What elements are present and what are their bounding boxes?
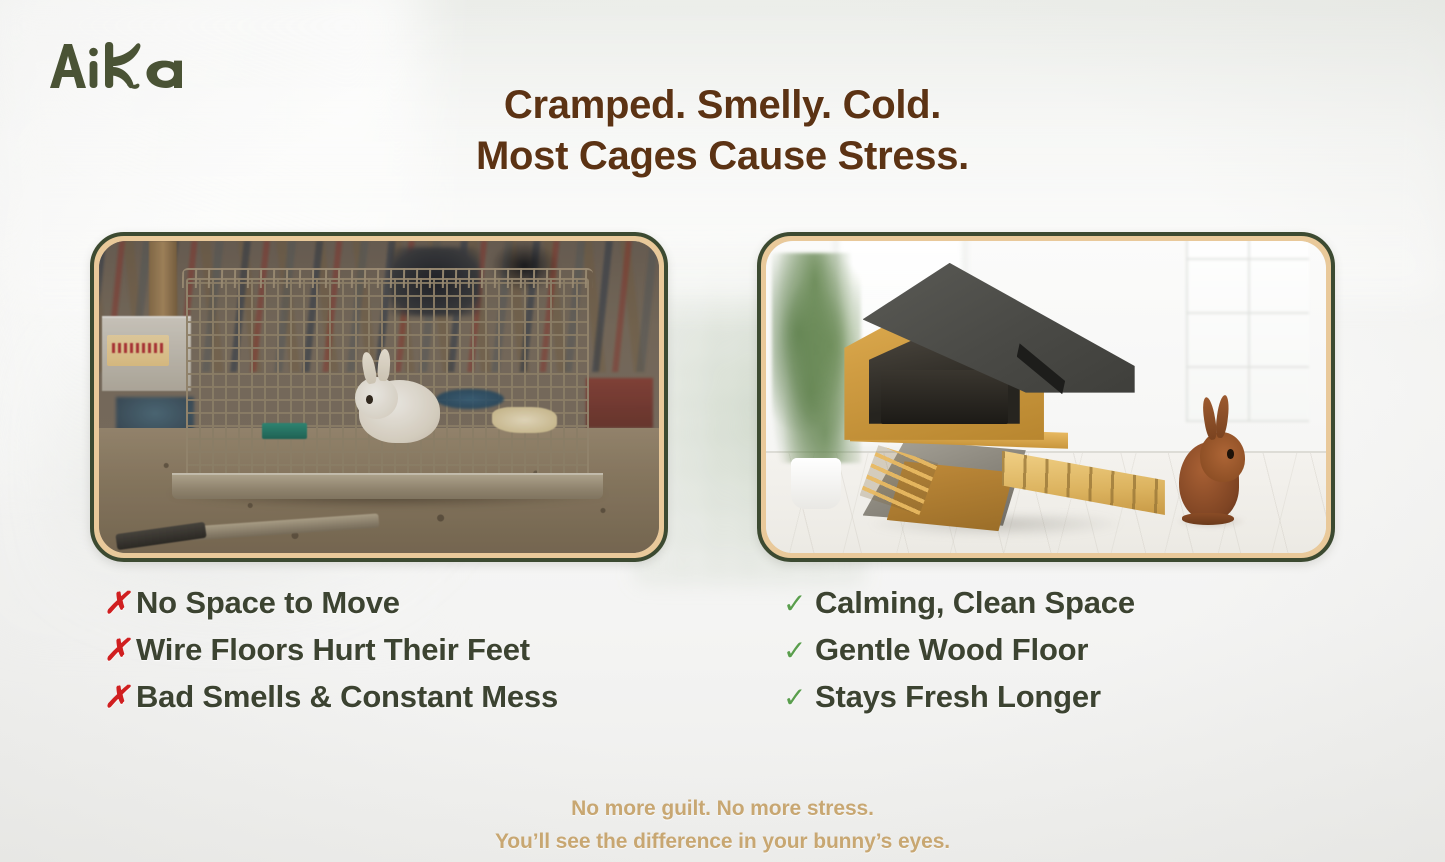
cross-icon: ✗ bbox=[104, 683, 124, 713]
list-item-label: Stays Fresh Longer bbox=[815, 679, 1101, 715]
benefit-list: ✓ Calming, Clean Space ✓ Gentle Wood Flo… bbox=[783, 585, 1135, 726]
list-item: ✗ Wire Floors Hurt Their Feet bbox=[104, 632, 558, 679]
hutch-ramp bbox=[1002, 451, 1165, 515]
list-item: ✗ Bad Smells & Constant Mess bbox=[104, 679, 558, 726]
hutch-interior-shadow bbox=[881, 370, 1008, 424]
solution-image bbox=[766, 241, 1326, 553]
problem-image-card[interactable] bbox=[90, 232, 668, 562]
garage-scene bbox=[99, 241, 659, 553]
check-icon: ✓ bbox=[783, 684, 803, 712]
list-item-label: Calming, Clean Space bbox=[815, 585, 1135, 621]
bright-room-scene bbox=[766, 241, 1326, 553]
list-item-label: Gentle Wood Floor bbox=[815, 632, 1088, 668]
list-item: ✓ Gentle Wood Floor bbox=[783, 632, 1135, 679]
cross-icon: ✗ bbox=[104, 636, 124, 666]
room-window-right bbox=[1186, 241, 1309, 422]
problem-list: ✗ No Space to Move ✗ Wire Floors Hurt Th… bbox=[104, 585, 558, 726]
list-item-label: No Space to Move bbox=[136, 585, 400, 621]
page-title: Cramped. Smelly. Cold. Most Cages Cause … bbox=[0, 80, 1445, 182]
brown-rabbit bbox=[1175, 406, 1248, 525]
check-icon: ✓ bbox=[783, 637, 803, 665]
list-item: ✓ Stays Fresh Longer bbox=[783, 679, 1135, 726]
footer-line-2: You’ll see the difference in your bunny’… bbox=[0, 825, 1445, 858]
footer-line-1: No more guilt. No more stress. bbox=[0, 792, 1445, 825]
solution-image-card[interactable] bbox=[757, 232, 1335, 562]
list-item-label: Bad Smells & Constant Mess bbox=[136, 679, 558, 715]
photo-dim-overlay bbox=[99, 241, 659, 553]
list-item: ✓ Calming, Clean Space bbox=[783, 585, 1135, 632]
brown-rabbit-eye bbox=[1227, 449, 1234, 458]
headline-line-1: Cramped. Smelly. Cold. bbox=[0, 80, 1445, 131]
infographic-page: Cramped. Smelly. Cold. Most Cages Cause … bbox=[0, 0, 1445, 862]
check-icon: ✓ bbox=[783, 590, 803, 618]
plant-pot bbox=[791, 458, 841, 509]
list-item: ✗ No Space to Move bbox=[104, 585, 558, 632]
footer-tagline: No more guilt. No more stress. You’ll se… bbox=[0, 792, 1445, 858]
cross-icon: ✗ bbox=[104, 589, 124, 619]
wooden-rabbit-hutch bbox=[844, 263, 1146, 531]
brown-rabbit-feet bbox=[1182, 513, 1234, 525]
headline-line-2: Most Cages Cause Stress. bbox=[0, 131, 1445, 182]
problem-image bbox=[99, 241, 659, 553]
brown-rabbit-head bbox=[1200, 432, 1245, 482]
list-item-label: Wire Floors Hurt Their Feet bbox=[136, 632, 530, 668]
